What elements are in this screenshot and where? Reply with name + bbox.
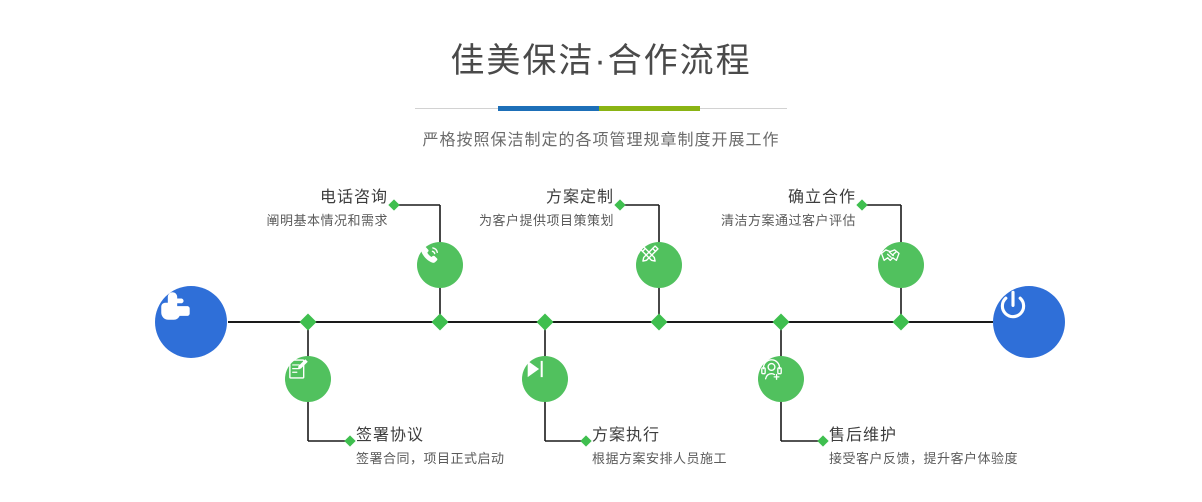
step-label-below-2: 方案执行 根据方案安排人员施工 [592, 428, 727, 465]
timeline-marker [300, 314, 317, 331]
step-title: 确立合作 [620, 190, 856, 206]
document-edit-icon [285, 356, 311, 382]
step-title: 方案定制 [380, 190, 614, 206]
timeline-marker [651, 314, 668, 331]
step-label-above-3: 确立合作 清洁方案通过客户评估 [620, 190, 856, 227]
step-icon-establish-cooperation[interactable] [878, 242, 924, 288]
flow-chart-page: 佳美保洁·合作流程 严格按照保洁制定的各项管理规章制度开展工作 [0, 0, 1202, 502]
phone-call-icon [417, 242, 443, 268]
step-icon-after-sales[interactable] [758, 356, 804, 402]
step-title: 售后维护 [829, 428, 1018, 444]
step-icon-sign-agreement[interactable] [285, 356, 331, 402]
power-icon [993, 286, 1033, 326]
flow-end-node[interactable] [993, 286, 1065, 358]
timeline-marker [432, 314, 449, 331]
label-marker [344, 435, 355, 446]
step-icon-plan-design[interactable] [636, 242, 682, 288]
step-label-above-2: 方案定制 为客户提供项目策策划 [380, 190, 614, 227]
step-label-below-1: 签署协议 签署合同，项目正式启动 [356, 428, 505, 465]
timeline-marker [773, 314, 790, 331]
timeline-marker [537, 314, 554, 331]
headset-support-icon [758, 356, 785, 383]
step-title: 电话咨询 [150, 190, 388, 206]
step-title: 方案执行 [592, 428, 727, 444]
process-flow-diagram: 电话咨询 阐明基本情况和需求 方案定制 为客户提供项目策策划 确立合作 清洁方案… [0, 0, 1202, 502]
pointing-hand-icon [155, 286, 195, 326]
step-icon-phone-consult[interactable] [417, 242, 463, 288]
step-label-below-3: 售后维护 接受客户反馈，提升客户体验度 [829, 428, 1018, 465]
label-marker [817, 435, 828, 446]
pencil-ruler-icon [636, 242, 662, 268]
step-desc: 清洁方案通过客户评估 [620, 214, 856, 227]
step-icon-plan-execution[interactable] [522, 356, 568, 402]
step-desc: 根据方案安排人员施工 [592, 452, 727, 465]
timeline-marker [893, 314, 910, 331]
label-marker [580, 435, 591, 446]
step-desc: 为客户提供项目策策划 [380, 214, 614, 227]
label-marker [856, 199, 867, 210]
step-title: 签署协议 [356, 428, 505, 444]
step-desc: 签署合同，项目正式启动 [356, 452, 505, 465]
step-desc: 阐明基本情况和需求 [150, 214, 388, 227]
play-skip-icon [522, 356, 548, 382]
step-desc: 接受客户反馈，提升客户体验度 [829, 452, 1018, 465]
handshake-icon [878, 242, 906, 270]
step-label-above-1: 电话咨询 阐明基本情况和需求 [150, 190, 388, 227]
flow-start-node[interactable] [155, 286, 227, 358]
